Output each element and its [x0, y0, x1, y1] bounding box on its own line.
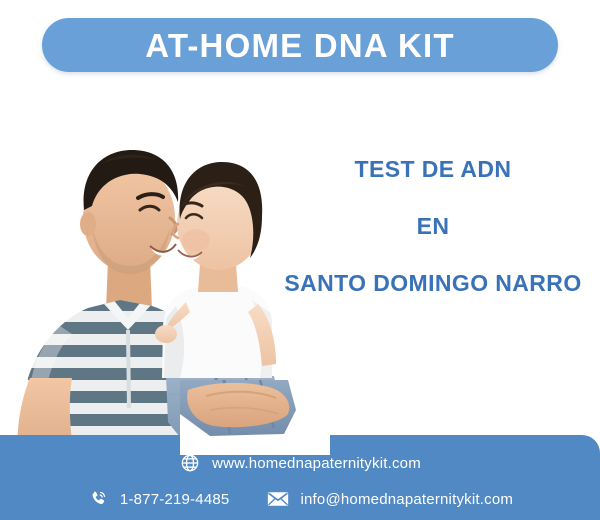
headline-line-1: TEST DE ADN: [272, 158, 594, 181]
phone-icon: [87, 488, 109, 510]
contact-email[interactable]: info@homednapaternitykit.com: [267, 488, 513, 510]
photo-overlap-illustration: [180, 380, 330, 455]
poster-root: AT-HOME DNA KIT: [0, 0, 600, 520]
contact-phone[interactable]: 1-877-219-4485: [87, 488, 230, 510]
photo-footer-overlap: [180, 380, 330, 455]
email-label: info@homednapaternitykit.com: [300, 491, 513, 508]
contact-website[interactable]: www.homednapaternitykit.com: [179, 452, 421, 474]
phone-label: 1-877-219-4485: [120, 491, 230, 508]
page-title: AT-HOME DNA KIT: [145, 29, 454, 62]
globe-icon: [179, 452, 201, 474]
envelope-icon: [267, 488, 289, 510]
headline-line-2: EN: [272, 215, 594, 238]
footer-row-phone-email: 1-877-219-4485 info@homednapaternitykit.…: [0, 486, 600, 512]
header-pill: AT-HOME DNA KIT: [42, 18, 558, 72]
website-label: www.homednapaternitykit.com: [212, 455, 421, 472]
headline-line-3: SANTO DOMINGO NARRO: [272, 272, 594, 295]
headline-block: TEST DE ADN EN SANTO DOMINGO NARRO: [272, 158, 594, 295]
